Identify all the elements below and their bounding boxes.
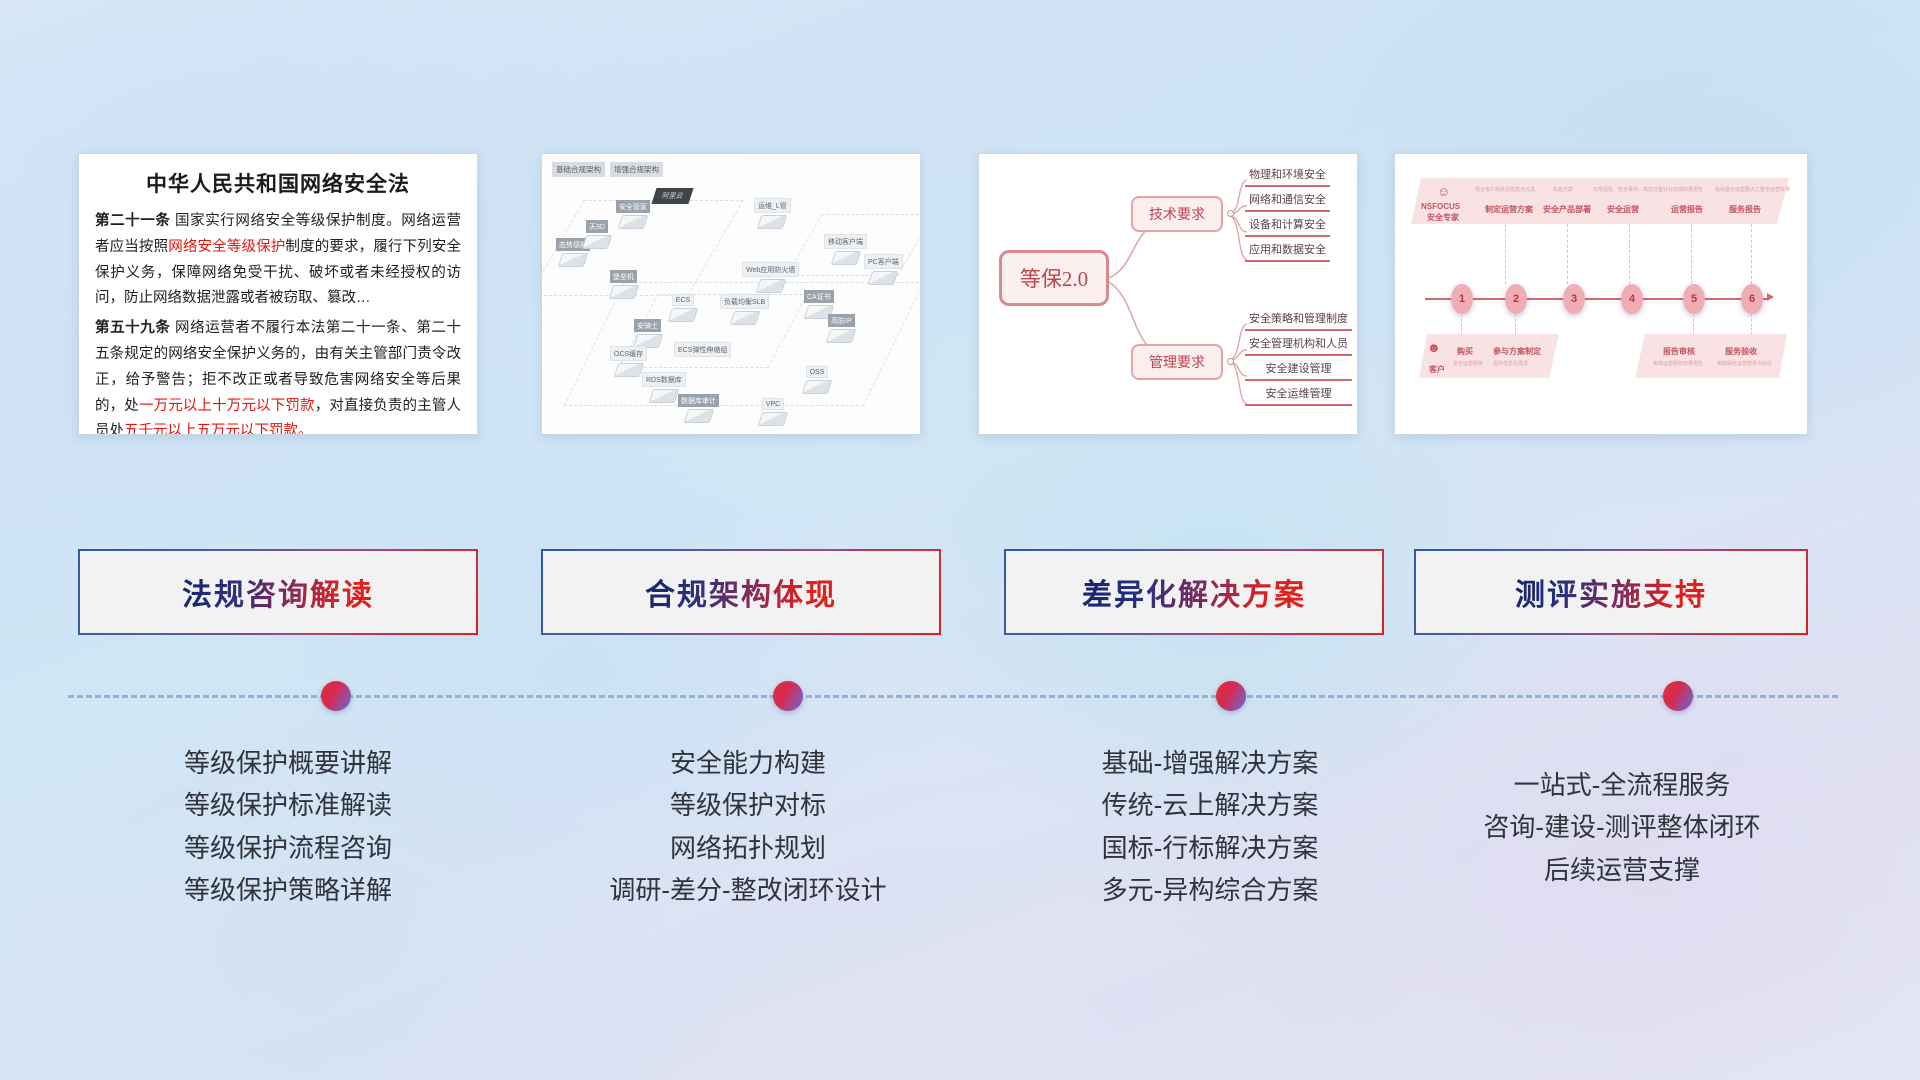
timeline-step-number: 3 xyxy=(1563,284,1585,314)
step-subtitle: 实施方案 xyxy=(1553,186,1573,193)
mindmap-leaf-label: 物理和环境安全 xyxy=(1245,166,1330,184)
section-detail-item: 网络拓扑规划 xyxy=(538,827,958,869)
step-title: 安全运营 xyxy=(1607,204,1639,215)
step-connector xyxy=(1751,224,1752,284)
timeline-marker-4[interactable] xyxy=(1663,681,1693,711)
timeline-step-number: 1 xyxy=(1451,284,1473,314)
mindmap-leaf-label: 安全建设管理 xyxy=(1245,360,1352,378)
node-cube-icon xyxy=(757,215,788,229)
step-title: 服务验收 xyxy=(1725,346,1757,357)
vendor-activity-band xyxy=(1411,178,1789,224)
node-cube-icon xyxy=(729,311,760,325)
node-label: 负载均衡SLB xyxy=(720,294,769,309)
mindmap-leaf-label: 安全策略和管理制度 xyxy=(1245,310,1352,328)
section-title-label: 法规咨询解读 xyxy=(182,570,374,614)
section-title-box-2[interactable]: 合规架构体现 xyxy=(541,549,941,635)
section-details-4: 一站式-全流程服务 咨询-建设-测评整体闭环 后续运营支撑 xyxy=(1412,742,1832,891)
section-detail-item: 国标-行标解决方案 xyxy=(1000,827,1420,869)
section-title-box-1[interactable]: 法规咨询解读 xyxy=(78,549,478,635)
mindmap-leaf: 安全策略和管理制度 xyxy=(1245,310,1352,331)
mindmap-leaves-technical: 物理和环境安全 网络和通信安全 设备和计算安全 应用和数据安全 xyxy=(1245,166,1330,266)
step-connector xyxy=(1629,224,1630,284)
section-detail-item: 一站式-全流程服务 xyxy=(1412,764,1832,806)
card-cybersecurity-law: 中华人民共和国网络安全法 第二十一条 国家实行网络安全等级保护制度。网络运营者应… xyxy=(78,153,478,435)
node-cube-icon xyxy=(558,253,589,267)
mindmap-collapse-icon[interactable] xyxy=(1227,358,1234,365)
node-label: ECS弹性伸缩组 xyxy=(674,342,731,357)
section-title-label: 差异化解决方案 xyxy=(1082,570,1306,614)
step-subtitle: 提供信息及需求 xyxy=(1493,360,1528,367)
node-cube-icon xyxy=(826,329,857,343)
node-agent-guard: 安骑士 xyxy=(634,319,661,348)
mindmap: 等保2.0 技术要求 物理和环境安全 网络和通信安全 设备和计算安全 应用和数据… xyxy=(979,154,1357,434)
timeline-marker-1[interactable] xyxy=(321,681,351,711)
step-subtitle: 结合客户现状及隐患点分具 xyxy=(1475,186,1535,193)
article-59-highlight-1: 一万元以上十万元以下罚款 xyxy=(139,398,315,414)
step-connector xyxy=(1691,224,1692,284)
law-article-59: 第五十九条 网络运营者不履行本法第二十一条、第二十五条规定的网络安全保护义务的，… xyxy=(95,316,461,435)
step-connector xyxy=(1567,224,1568,284)
node-label: 高防IP xyxy=(828,314,855,327)
mindmap-leaf: 设备和计算安全 xyxy=(1245,216,1330,237)
step-subtitle: 安全运营服务 xyxy=(1453,360,1483,367)
section-detail-row: 等级保护概要讲解 等级保护标准解读 等级保护流程咨询 等级保护策略详解 安全能力… xyxy=(0,742,1920,1042)
brand-name: NSFOCUS xyxy=(1421,202,1460,211)
section-title-inner: 法规咨询解读 xyxy=(80,551,476,633)
section-details-1: 等级保护概要讲解 等级保护标准解读 等级保护流程咨询 等级保护策略详解 xyxy=(78,742,498,912)
mindmap-leaf: 安全建设管理 xyxy=(1245,360,1352,381)
timeline-axis xyxy=(1425,298,1769,300)
step-subtitle: 给出整份运营要点之整本运营效果 xyxy=(1715,186,1790,193)
section-detail-item: 等级保护流程咨询 xyxy=(78,827,498,869)
timeline-step-number: 5 xyxy=(1683,284,1705,314)
law-article-21: 第二十一条 国家实行网络安全等级保护制度。网络运营者应当按照网络安全等级保护制度… xyxy=(95,209,461,312)
mindmap-leaf: 应用和数据安全 xyxy=(1245,241,1330,262)
card-nsfocus-service-flow: ☺ NSFOCUS 安全专家 结合客户现状及隐患点分具 制定运营方案 实施方案 … xyxy=(1394,153,1808,435)
step-subtitle: 针对定期效果报告 xyxy=(1663,186,1703,193)
section-title-label: 测评实施支持 xyxy=(1515,570,1707,614)
node-tian3d: 天3D xyxy=(584,220,610,249)
node-label: ECS xyxy=(672,294,694,306)
node-label: 安骑士 xyxy=(634,319,661,332)
node-oss: OSS xyxy=(804,366,830,394)
node-cube-icon xyxy=(683,409,714,423)
section-detail-item: 等级保护策略详解 xyxy=(78,869,498,911)
node-label: CA证书 xyxy=(804,290,834,303)
node-bastion-host: 堡垒机 xyxy=(610,270,637,299)
section-detail-item: 等级保护标准解读 xyxy=(78,784,498,826)
node-pc-client: PC客户端 xyxy=(864,254,903,285)
node-label: 数据库审计 xyxy=(678,394,719,407)
slide-canvas: 中华人民共和国网络安全法 第二十一条 国家实行网络安全等级保护制度。网络运营者应… xyxy=(0,0,1920,1080)
node-label: PC客户端 xyxy=(864,254,903,269)
step-title: 制定运营方案 xyxy=(1485,204,1533,215)
step-connector xyxy=(1505,224,1506,284)
timeline-arrow-icon xyxy=(1767,293,1774,301)
step-subtitle: 日常巡检、安全事件、高危处置 xyxy=(1593,186,1663,193)
section-detail-item: 咨询-建设-测评整体闭环 xyxy=(1412,806,1832,848)
node-cube-icon xyxy=(618,215,649,229)
step-subtitle: 审核服务运营效果与验收 xyxy=(1717,360,1772,367)
node-slb: 负载均衡SLB xyxy=(720,294,769,325)
section-title-inner: 差异化解决方案 xyxy=(1006,551,1382,633)
article-59-label: 第五十九条 xyxy=(95,320,170,336)
section-detail-item: 安全能力构建 xyxy=(538,742,958,784)
mindmap-leaf-label: 应用和数据安全 xyxy=(1245,241,1330,259)
article-21-highlight: 网络安全等级保护 xyxy=(168,239,285,255)
step-title: 参与方案制定 xyxy=(1493,346,1541,357)
mindmap-leaf: 物理和环境安全 xyxy=(1245,166,1330,187)
node-label: 运维_L管 xyxy=(754,198,791,213)
timeline-track xyxy=(68,694,1838,698)
node-label: 天3D xyxy=(586,220,608,233)
node-label: OSS xyxy=(806,366,829,378)
node-cube-icon xyxy=(613,363,644,377)
section-detail-item: 基础-增强解决方案 xyxy=(1000,742,1420,784)
step-title: 运营报告 xyxy=(1671,204,1703,215)
section-detail-item: 等级保护对标 xyxy=(538,784,958,826)
node-label: Web应用防火墙 xyxy=(742,262,799,277)
step-title: 服务报告 xyxy=(1729,204,1761,215)
section-detail-item: 等级保护概要讲解 xyxy=(78,742,498,784)
node-ops-admin: 运维_L管 xyxy=(754,198,791,229)
node-label: VPC xyxy=(762,398,784,410)
section-detail-item: 后续运营支撑 xyxy=(1412,849,1832,891)
node-vpc: VPC xyxy=(760,398,786,426)
section-detail-item: 多元-异构综合方案 xyxy=(1000,869,1420,911)
card-dengbao-mindmap: 等保2.0 技术要求 物理和环境安全 网络和通信安全 设备和计算安全 应用和数据… xyxy=(978,153,1358,435)
timeline-marker-2[interactable] xyxy=(773,681,803,711)
mindmap-leaf-label: 设备和计算安全 xyxy=(1245,216,1330,234)
node-label: 移动客户端 xyxy=(824,234,867,249)
architecture-tag: 基础合规架构 xyxy=(552,162,605,177)
mindmap-root: 等保2.0 xyxy=(999,250,1109,306)
node-cube-icon xyxy=(582,235,613,249)
article-59-highlight-2: 五千元以上五万元以下罚款。 xyxy=(124,423,313,435)
section-title-inner: 测评实施支持 xyxy=(1416,551,1806,633)
expert-avatar-icon: ☺ xyxy=(1437,184,1450,199)
architecture-diagram: 基础合规架构 增强合规架构 阿里云 态势感知 天3D 安全管家 xyxy=(542,154,920,434)
node-cube-icon xyxy=(802,380,833,394)
mindmap-collapse-icon[interactable] xyxy=(1227,210,1234,217)
timeline-marker-3[interactable] xyxy=(1216,681,1246,711)
law-title: 中华人民共和国网络安全法 xyxy=(95,168,461,198)
node-cube-icon xyxy=(755,279,786,293)
node-database-audit: 数据库审计 xyxy=(678,394,719,423)
node-cube-icon xyxy=(830,251,861,265)
node-ecs: ECS xyxy=(670,294,696,322)
section-details-2: 安全能力构建 等级保护对标 网络拓扑规划 调研-差分-整改闭环设计 xyxy=(538,742,958,912)
section-title-label: 合规架构体现 xyxy=(645,570,837,614)
mindmap-leaf: 安全运维管理 xyxy=(1245,385,1352,406)
mindmap-leaf-label: 安全管理机构和人员 xyxy=(1245,335,1352,353)
step-title: 购买 xyxy=(1457,346,1473,357)
section-title-box-3[interactable]: 差异化解决方案 xyxy=(1004,549,1384,635)
timeline-step-number: 6 xyxy=(1741,284,1763,314)
law-document: 中华人民共和国网络安全法 第二十一条 国家实行网络安全等级保护制度。网络运营者应… xyxy=(79,154,477,435)
architecture-tag-row: 基础合规架构 增强合规架构 xyxy=(552,162,663,177)
node-security-steward: 安全管家 xyxy=(616,200,650,229)
section-title-row: 法规咨询解读 合规架构体现 差异化解决方案 测评实施支持 xyxy=(0,549,1920,639)
node-anti-ddos-ip: 高防IP xyxy=(828,314,855,343)
node-cube-icon xyxy=(868,271,899,285)
node-label: OCS缓存 xyxy=(610,346,647,361)
section-detail-item: 调研-差分-整改闭环设计 xyxy=(538,869,958,911)
card-compliance-architecture: 基础合规架构 增强合规架构 阿里云 态势感知 天3D 安全管家 xyxy=(541,153,921,435)
section-title-inner: 合规架构体现 xyxy=(543,551,939,633)
architecture-tag: 增强合规架构 xyxy=(610,162,663,177)
node-label: 堡垒机 xyxy=(610,270,637,283)
node-ecs-scaling-group: ECS弹性伸缩组 xyxy=(674,342,731,357)
step-subtitle: 审核运营服务效果报告 xyxy=(1653,360,1703,367)
customer-avatar-icon: ☻ xyxy=(1427,340,1441,355)
node-cube-icon xyxy=(668,308,699,322)
step-title: 报告审核 xyxy=(1663,346,1695,357)
timeline-step-number: 2 xyxy=(1505,284,1527,314)
brand-subtitle: 安全专家 xyxy=(1427,212,1459,223)
timeline-step-number: 4 xyxy=(1621,284,1643,314)
illustration-card-row: 中华人民共和国网络安全法 第二十一条 国家实行网络安全等级保护制度。网络运营者应… xyxy=(0,153,1920,438)
customer-activity-band-right xyxy=(1635,334,1787,378)
mindmap-leaf: 安全管理机构和人员 xyxy=(1245,335,1352,356)
cloud-provider-label: 阿里云 xyxy=(651,188,693,204)
node-label: RDS数据库 xyxy=(642,372,686,387)
mindmap-leaf-label: 网络和通信安全 xyxy=(1245,191,1330,209)
mindmap-branch-technical: 技术要求 xyxy=(1131,196,1223,232)
mindmap-leaf-label: 安全运维管理 xyxy=(1245,385,1352,403)
nsfocus-timeline: ☺ NSFOCUS 安全专家 结合客户现状及隐患点分具 制定运营方案 实施方案 … xyxy=(1395,154,1807,434)
node-label: 安全管家 xyxy=(616,200,650,213)
step-title: 安全产品部署 xyxy=(1543,204,1591,215)
node-mobile-client: 移动客户端 xyxy=(824,234,867,265)
mindmap-branch-management: 管理要求 xyxy=(1131,344,1223,380)
mindmap-leaf: 网络和通信安全 xyxy=(1245,191,1330,212)
section-details-3: 基础-增强解决方案 传统-云上解决方案 国标-行标解决方案 多元-异构综合方案 xyxy=(1000,742,1420,912)
node-cube-icon xyxy=(649,389,680,403)
section-title-box-4[interactable]: 测评实施支持 xyxy=(1414,549,1808,635)
customer-label: 客户 xyxy=(1429,364,1445,375)
article-21-label: 第二十一条 xyxy=(95,213,170,229)
node-waf: Web应用防火墙 xyxy=(742,262,799,293)
mindmap-leaves-management: 安全策略和管理制度 安全管理机构和人员 安全建设管理 安全运维管理 xyxy=(1245,310,1352,410)
node-cube-icon xyxy=(608,285,639,299)
section-detail-item: 传统-云上解决方案 xyxy=(1000,784,1420,826)
node-cube-icon xyxy=(758,412,789,426)
